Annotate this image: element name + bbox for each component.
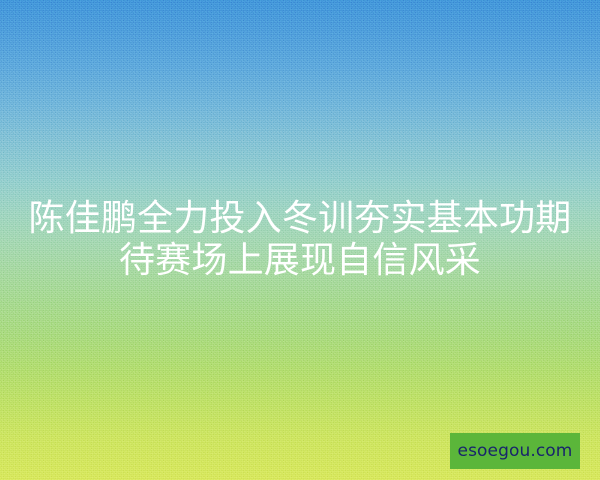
watermark-label: esoegou.com <box>458 443 573 460</box>
image-card: 陈佳鹏全力投入冬训夯实基本功期待赛场上展现自信风采 esoegou.com <box>0 0 600 480</box>
watermark-badge: esoegou.com <box>450 433 580 469</box>
headline-text: 陈佳鹏全力投入冬训夯实基本功期待赛场上展现自信风采 <box>0 198 600 282</box>
